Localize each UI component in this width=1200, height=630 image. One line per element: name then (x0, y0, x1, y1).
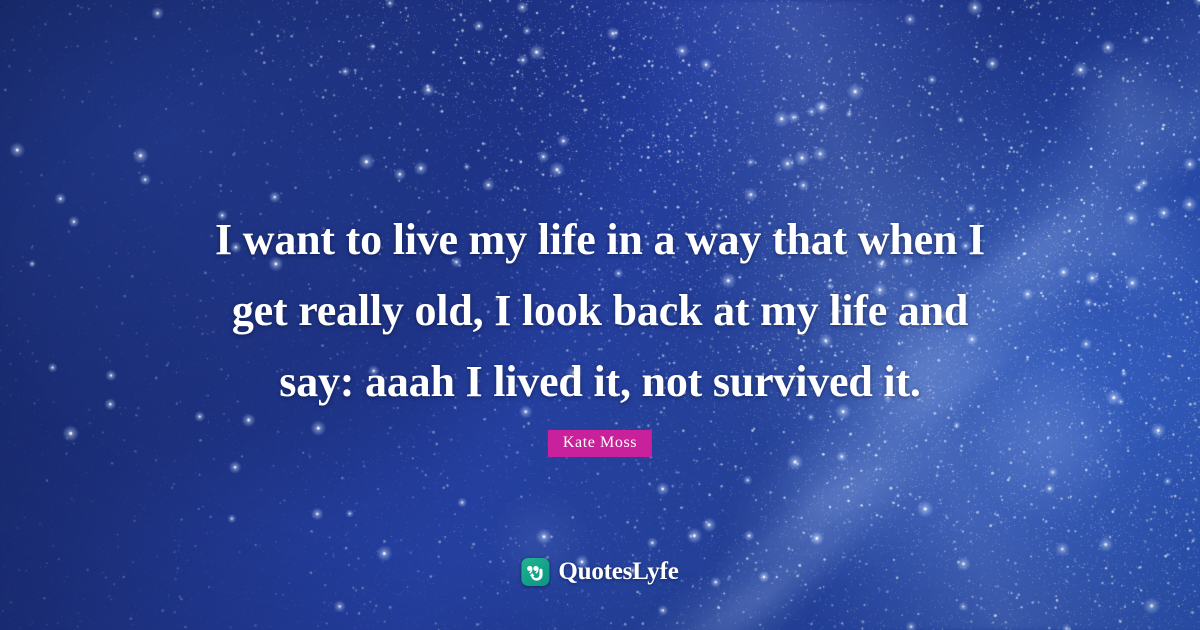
quote-line-3: say: aaah I lived it, not survived it. (120, 346, 1080, 417)
author-badge[interactable]: Kate Moss (548, 430, 652, 457)
quote-line-1: I want to live my life in a way that whe… (120, 204, 1080, 275)
brand-name: QuotesLyfe (558, 558, 678, 586)
quote-line-2: get really old, I look back at my life a… (120, 275, 1080, 346)
brand-logo[interactable]: QuotesLyfe (521, 558, 678, 586)
card-content: I want to live my life in a way that whe… (0, 0, 1200, 630)
quote-text: I want to live my life in a way that whe… (0, 204, 1200, 417)
quote-card: I want to live my life in a way that whe… (0, 0, 1200, 630)
quotation-mark-icon (521, 558, 549, 586)
author-name: Kate Moss (563, 434, 637, 451)
